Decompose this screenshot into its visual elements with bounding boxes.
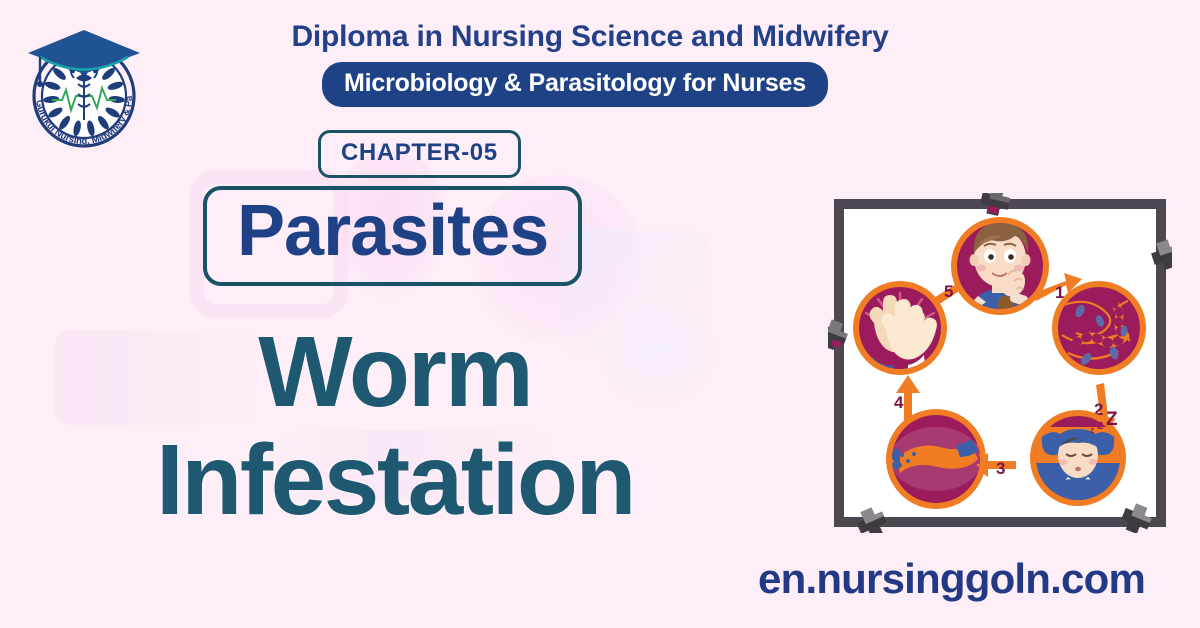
topic-title: Parasites	[203, 186, 582, 286]
page-title-line-1: Worm	[10, 318, 780, 426]
course-title: Diploma in Nursing Science and Midwifery	[175, 20, 1005, 54]
chapter-badge: CHAPTER-05	[318, 130, 521, 178]
page-title-line-2: Infestation	[10, 426, 780, 534]
svg-text:z: z	[1090, 425, 1095, 435]
svg-text:Z: Z	[1106, 409, 1118, 430]
svg-text:z: z	[1097, 417, 1104, 432]
step-worms-in-intestine	[1052, 281, 1146, 375]
poster-canvas: Gurukul Nursing, Midwifery & Patient Car…	[0, 0, 1200, 628]
page-title: Worm Infestation	[10, 318, 780, 534]
step-child-hand-to-mouth	[951, 217, 1049, 315]
subject-pill: Microbiology & Parasitology for Nurses	[322, 62, 828, 107]
step-number-5: 5	[944, 282, 953, 301]
worm-infestation-cycle-illustration: 1 2 3 4 5	[828, 193, 1172, 533]
gurukul-logo: Gurukul Nursing, Midwifery & Patient Car…	[18, 12, 150, 162]
step-number-3: 3	[996, 459, 1005, 478]
website-url: en.nursinggoln.com	[758, 555, 1145, 603]
step-number-4: 4	[894, 393, 904, 412]
